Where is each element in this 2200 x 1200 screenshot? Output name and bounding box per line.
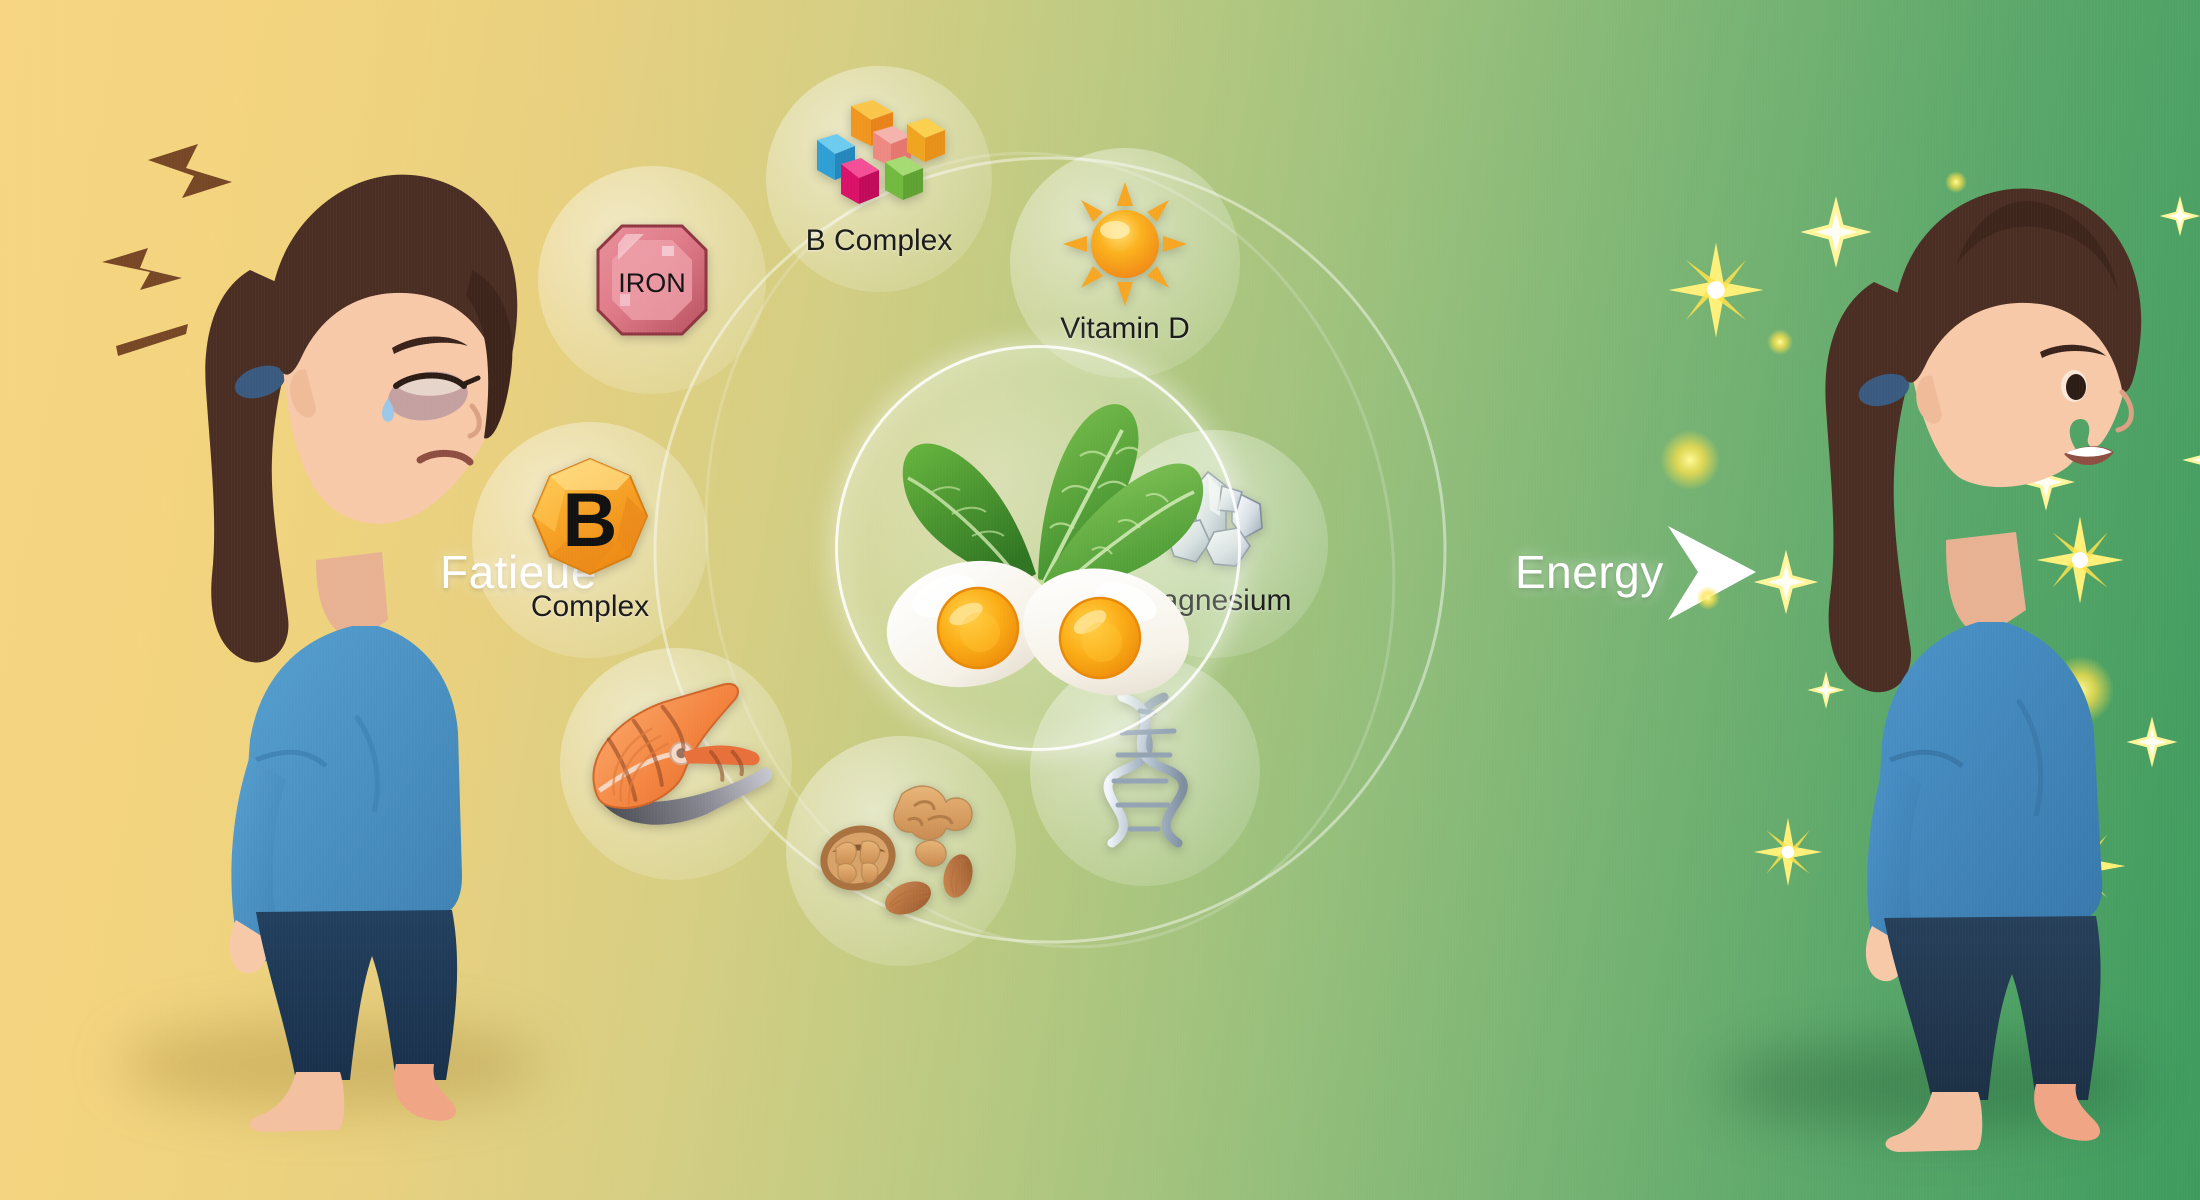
lightning-bolt-icon [148,144,232,198]
wheel-node-b-complex-cubes[interactable]: B Complex [766,66,992,292]
sun-icon [1061,180,1189,308]
infographic-canvas: Fatieue [0,0,2200,1200]
svg-text:B: B [563,478,618,563]
pants [256,910,457,1080]
right-figure-group [1750,140,2170,1100]
pants [1884,916,2101,1100]
nutrient-wheel: IRON [600,100,1500,1000]
salmon-steak-icon [581,694,771,834]
lightning-bolt-icon [102,248,182,290]
wheel-node-label: B Complex [806,224,953,258]
wheel-node-b-complex-gem[interactable]: B Complex [472,422,708,658]
wheel-node-vitamin-d[interactable]: Vitamin D [1010,148,1240,378]
svg-text:IRON: IRON [618,268,686,298]
wheel-node-label: Vitamin D [1060,312,1190,346]
cubes-icon [811,100,947,220]
right-state-label: Energy [1515,545,1664,599]
walnuts-almonds-icon [816,776,986,926]
octagon-gem-icon: B [525,456,655,586]
tick-mark-icon [116,324,188,356]
wheel-center-food-plate[interactable] [838,348,1238,748]
pupil [2066,374,2086,400]
healthy-food-icon [868,388,1208,708]
left-figure-group [120,120,540,1080]
gem-icon: IRON [592,220,712,340]
wheel-node-nuts[interactable] [786,736,1016,966]
wheel-node-salmon[interactable] [560,648,792,880]
wheel-node-iron[interactable]: IRON [538,166,766,394]
wheel-node-label: Complex [531,590,649,624]
